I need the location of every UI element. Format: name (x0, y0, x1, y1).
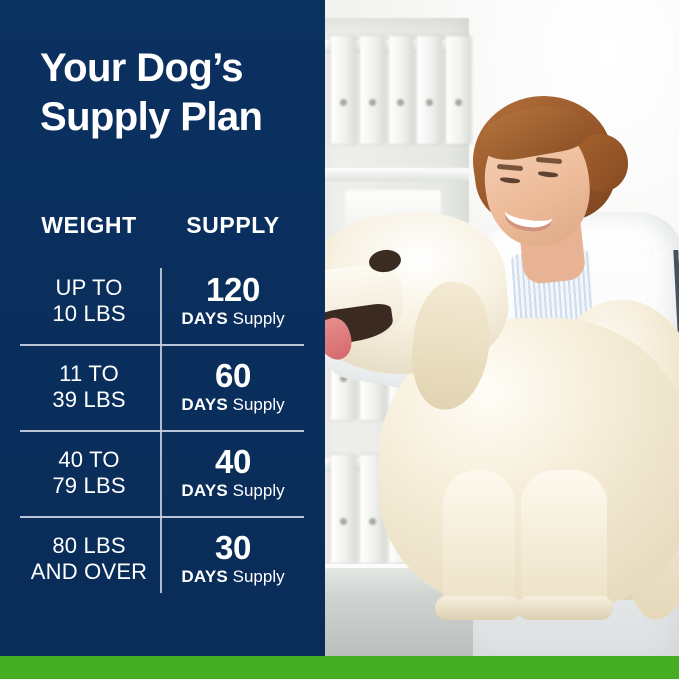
table-row: UP TO 10 LBS 120 DAYS Supply (22, 258, 302, 344)
cell-weight: 80 LBS AND OVER (22, 533, 160, 586)
photo-scene (325, 0, 679, 656)
supply-word: Supply (233, 481, 285, 500)
days-number: 120 (164, 273, 302, 308)
dog-front-leg (443, 470, 515, 616)
page-title: Your Dog’s Supply Plan (40, 44, 310, 142)
dog-paw (517, 596, 613, 620)
weight-line-2: 10 LBS (22, 301, 156, 327)
column-header-supply: SUPPLY (160, 212, 302, 239)
cell-weight: UP TO 10 LBS (22, 275, 160, 328)
weight-line-2: 39 LBS (22, 387, 156, 413)
supply-word: Supply (233, 395, 285, 414)
cell-supply: 120 DAYS Supply (160, 273, 302, 330)
page-title-line-2: Supply Plan (40, 93, 310, 142)
days-word: DAYS (181, 395, 227, 414)
days-number: 40 (164, 445, 302, 480)
weight-line-2: AND OVER (22, 559, 156, 585)
header-cell-supply-wrap: SUPPLY (160, 212, 302, 239)
weight-line-1: 11 TO (22, 361, 156, 387)
supply-word: Supply (233, 567, 285, 586)
table-header-row: WEIGHT SUPPLY (22, 212, 302, 258)
green-footer-bar (0, 656, 679, 679)
navy-panel: Your Dog’s Supply Plan WEIGHT SUPPLY UP … (0, 0, 325, 656)
weight-line-1: UP TO (22, 275, 156, 301)
dog-paw (435, 596, 521, 620)
days-label: DAYS Supply (164, 394, 302, 415)
table-row: 40 TO 79 LBS 40 DAYS Supply (22, 430, 302, 516)
table-row: 11 TO 39 LBS 60 DAYS Supply (22, 344, 302, 430)
cell-supply: 60 DAYS Supply (160, 359, 302, 416)
weight-line-2: 79 LBS (22, 473, 156, 499)
days-number: 30 (164, 531, 302, 566)
vet-and-dog-photo (325, 0, 679, 656)
days-word: DAYS (181, 309, 227, 328)
column-header-weight: WEIGHT (22, 212, 160, 239)
supply-table: WEIGHT SUPPLY UP TO 10 LBS 120 (22, 212, 302, 602)
cell-weight: 11 TO 39 LBS (22, 361, 160, 414)
dog-back-leg (521, 470, 607, 616)
weight-line-1: 80 LBS (22, 533, 156, 559)
days-label: DAYS Supply (164, 480, 302, 501)
supply-plan-infographic: Your Dog’s Supply Plan WEIGHT SUPPLY UP … (0, 0, 679, 679)
supply-word: Supply (233, 309, 285, 328)
days-number: 60 (164, 359, 302, 394)
table-body: UP TO 10 LBS 120 DAYS Supply 11 TO (22, 258, 302, 602)
days-word: DAYS (181, 481, 227, 500)
cell-weight: 40 TO 79 LBS (22, 447, 160, 500)
table-row: 80 LBS AND OVER 30 DAYS Supply (22, 516, 302, 602)
golden-retriever-dog (325, 0, 679, 656)
days-label: DAYS Supply (164, 566, 302, 587)
days-word: DAYS (181, 567, 227, 586)
page-title-line-1: Your Dog’s (40, 44, 310, 93)
weight-line-1: 40 TO (22, 447, 156, 473)
cell-supply: 30 DAYS Supply (160, 531, 302, 588)
header-cell-weight-wrap: WEIGHT (22, 212, 160, 239)
cell-supply: 40 DAYS Supply (160, 445, 302, 502)
days-label: DAYS Supply (164, 308, 302, 329)
